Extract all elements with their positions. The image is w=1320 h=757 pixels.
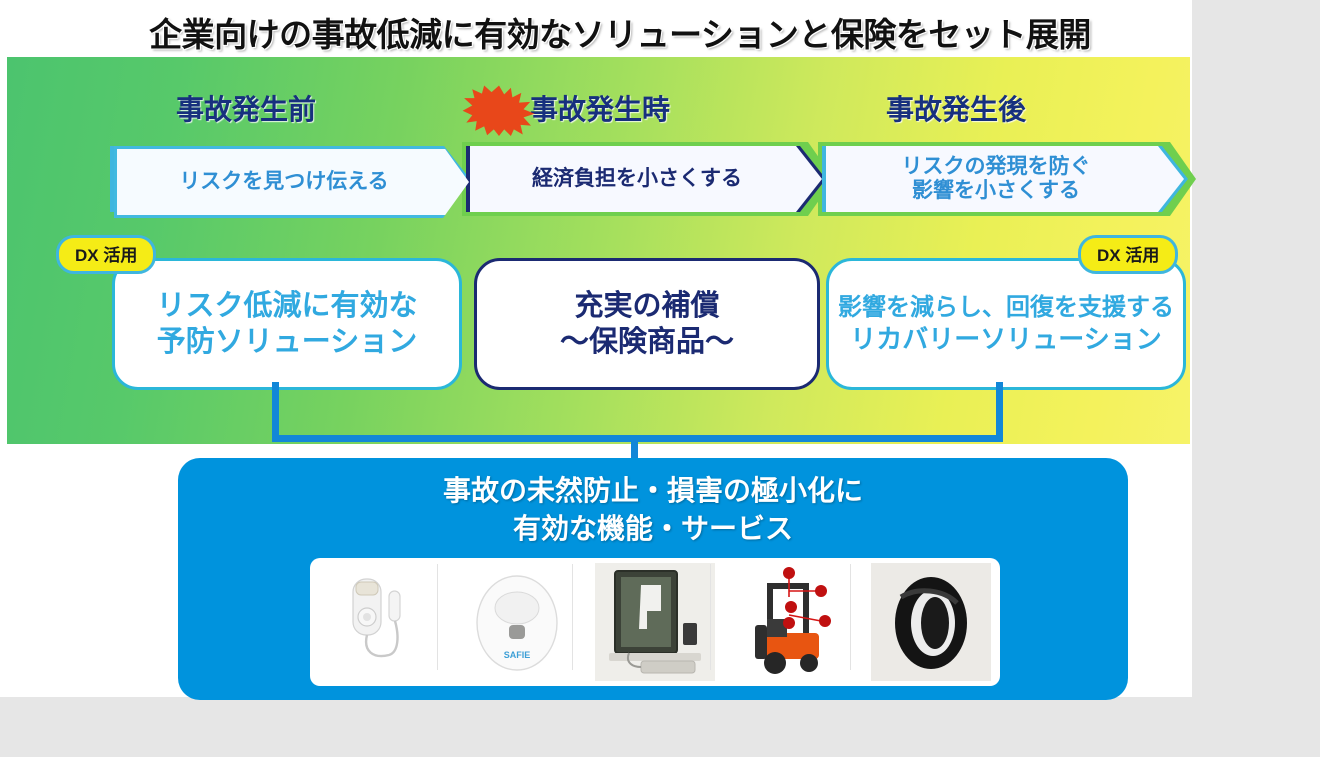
card-recovery-line1: 影響を減らし、回復を支援する [838,293,1174,323]
card-prevention-line1: リスク低減に有効な [156,288,417,324]
dx-badge-left: DX 活用 [56,235,156,274]
phase-heading-during: 事故発生時 [530,88,670,128]
chevron-after-line1: リスクの発現を防ぐ [902,155,1091,179]
photo-separator-3 [710,564,711,670]
chevron-before: リスクを見つけ伝える [114,146,469,218]
page-title: 企業向けの事故低減に有効なソリューションと保険をセット展開 [0,8,1240,56]
chevron-after: リスクの発現を防ぐ 影響を小さくする [826,146,1184,212]
card-recovery-line2: リカバリーソリューション [838,323,1174,356]
photo-monitor-kiosk-station [595,563,715,681]
photo-black-wristband [871,563,991,681]
page-margin-right [1192,0,1320,757]
connector-stem-left [272,382,279,442]
chevron-during-line1: 経済負担を小さくする [532,167,742,191]
svg-text:SAFIE: SAFIE [504,650,531,660]
card-insurance-line2: 〜保険商品〜 [560,324,734,360]
page-margin-bottom [0,697,1320,757]
phase-heading-before: 事故発生前 [176,88,316,128]
chevron-during: 経済負担を小さくする [470,146,822,212]
card-prevention-solution: リスク低減に有効な 予防ソリューション [112,258,462,390]
connector-stem-right [996,382,1003,442]
chevron-before-line1: リスクを見つけ伝える [179,170,388,194]
product-photo-strip: SAFIE [310,558,1000,686]
phase-heading-after: 事故発生後 [886,88,1026,128]
card-prevention-line2: 予防ソリューション [156,324,417,360]
services-panel-line1: 事故の未然防止・損害の極小化に [178,472,1128,510]
photo-round-white-sensor: SAFIE [457,563,577,681]
card-insurance-product: 充実の補償 〜保険商品〜 [474,258,820,390]
photo-forklift-with-sensor-markers [733,563,853,681]
services-panel-line2: 有効な機能・サービス [178,510,1128,548]
card-insurance-line1: 充実の補償 [560,288,734,324]
photo-separator-2 [572,564,573,670]
accident-starburst-icon [460,84,538,136]
card-recovery-solution: 影響を減らし、回復を支援する リカバリーソリューション [826,258,1186,390]
dx-badge-right: DX 活用 [1078,235,1178,274]
photo-separator-4 [850,564,851,670]
photo-separator-1 [437,564,438,670]
services-panel-text: 事故の未然防止・損害の極小化に 有効な機能・サービス [178,472,1128,548]
photo-wearable-sensor-with-cord [319,563,439,681]
chevron-after-line2: 影響を小さくする [902,179,1091,203]
